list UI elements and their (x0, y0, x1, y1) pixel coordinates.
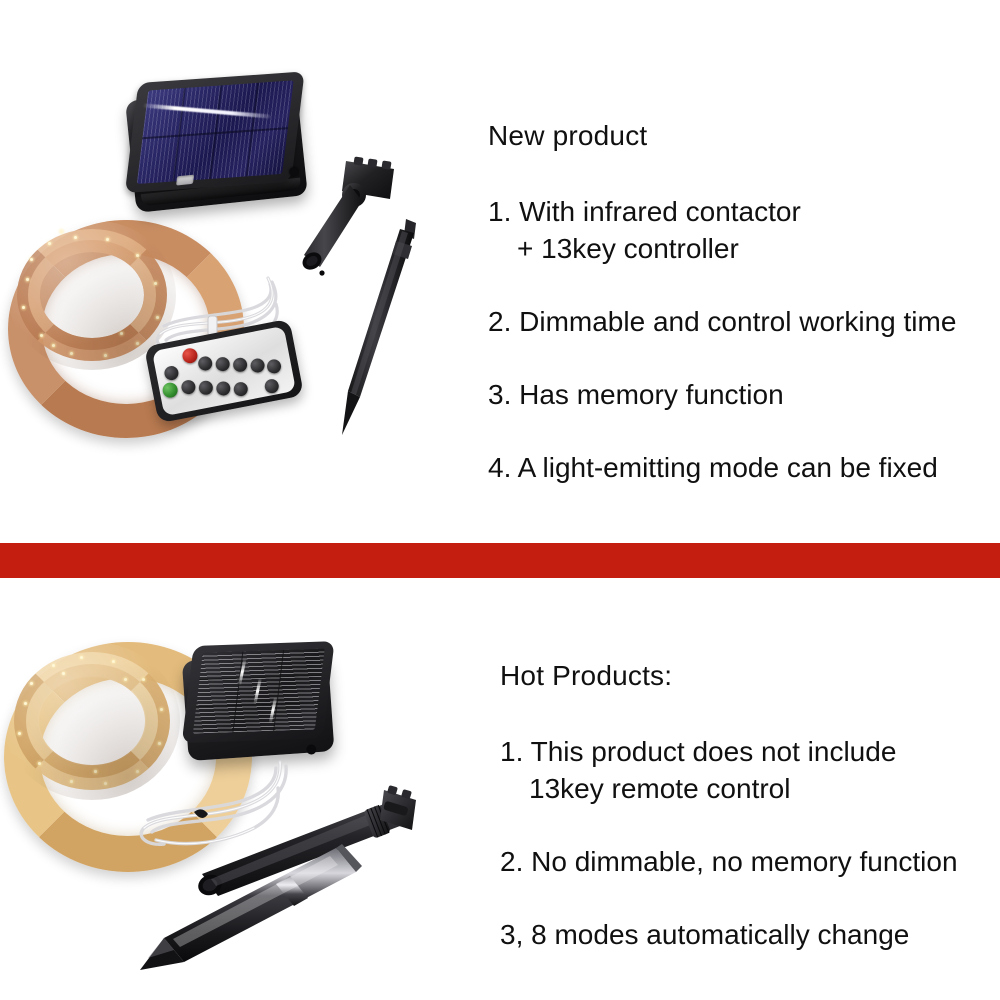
top-item-1-sub: + 13key controller (488, 231, 988, 268)
remote-key-minus (264, 378, 280, 394)
ground-stake-black (330, 215, 420, 440)
remote-key-f (180, 379, 196, 395)
remote-key-h (215, 380, 231, 396)
top-list-item-1: 1. With infrared contactor + 13key contr… (488, 194, 988, 268)
bottom-item-1-main: 1. This product does not include (500, 736, 896, 767)
bottom-text-panel: Hot Products: 1. This product does not i… (500, 660, 1000, 954)
top-feature-list: 1. With infrared contactor + 13key contr… (488, 194, 988, 487)
product-infographic-page: New product 1. With infrared contactor +… (0, 0, 1000, 1000)
bottom-item-2-main: 2. No dimmable, no memory function (500, 846, 958, 877)
bottom-list-item-3: 3, 8 modes automatically change (500, 917, 1000, 954)
remote-key-power (181, 347, 199, 365)
top-list-item-3: 3. Has memory function (488, 377, 988, 414)
bottom-list-item-2: 2. No dimmable, no memory function (500, 844, 1000, 881)
remote-key-a (163, 365, 179, 381)
top-item-1-main: 1. With infrared contactor (488, 196, 801, 227)
bottom-item-3-main: 3, 8 modes automatically change (500, 919, 909, 950)
remote-key-i (233, 381, 249, 397)
remote-key-g (198, 380, 214, 396)
bottom-heading: Hot Products: (500, 660, 1000, 692)
bottom-feature-list: 1. This product does not include 13key r… (500, 734, 1000, 954)
top-text-panel: New product 1. With infrared contactor +… (488, 120, 988, 487)
bottom-item-1-sub: 13key remote control (500, 771, 1000, 808)
top-list-item-2: 2. Dimmable and control working time (488, 304, 988, 341)
bottom-product-photo (0, 620, 470, 980)
remote-key-b (197, 355, 213, 371)
top-item-4-main: 4. A light-emitting mode can be fixed (488, 452, 938, 483)
top-item-3-main: 3. Has memory function (488, 379, 784, 410)
top-item-2-main: 2. Dimmable and control working time (488, 306, 956, 337)
top-product-photo (0, 60, 470, 480)
solar-panel-black (181, 639, 339, 769)
bottom-list-item-1: 1. This product does not include 13key r… (500, 734, 1000, 808)
remote-key-c (214, 356, 230, 372)
remote-key-e (249, 357, 265, 373)
remote-key-d (232, 357, 248, 373)
ground-stake-glossy (140, 842, 390, 982)
top-list-item-4: 4. A light-emitting mode can be fixed (488, 450, 988, 487)
panel-cable-port-bottom (306, 744, 317, 755)
red-divider-bar (0, 543, 1000, 578)
remote-key-plus (266, 358, 282, 374)
top-heading: New product (488, 120, 988, 152)
remote-key-mode (161, 381, 179, 399)
solar-panel-blue (124, 69, 312, 219)
